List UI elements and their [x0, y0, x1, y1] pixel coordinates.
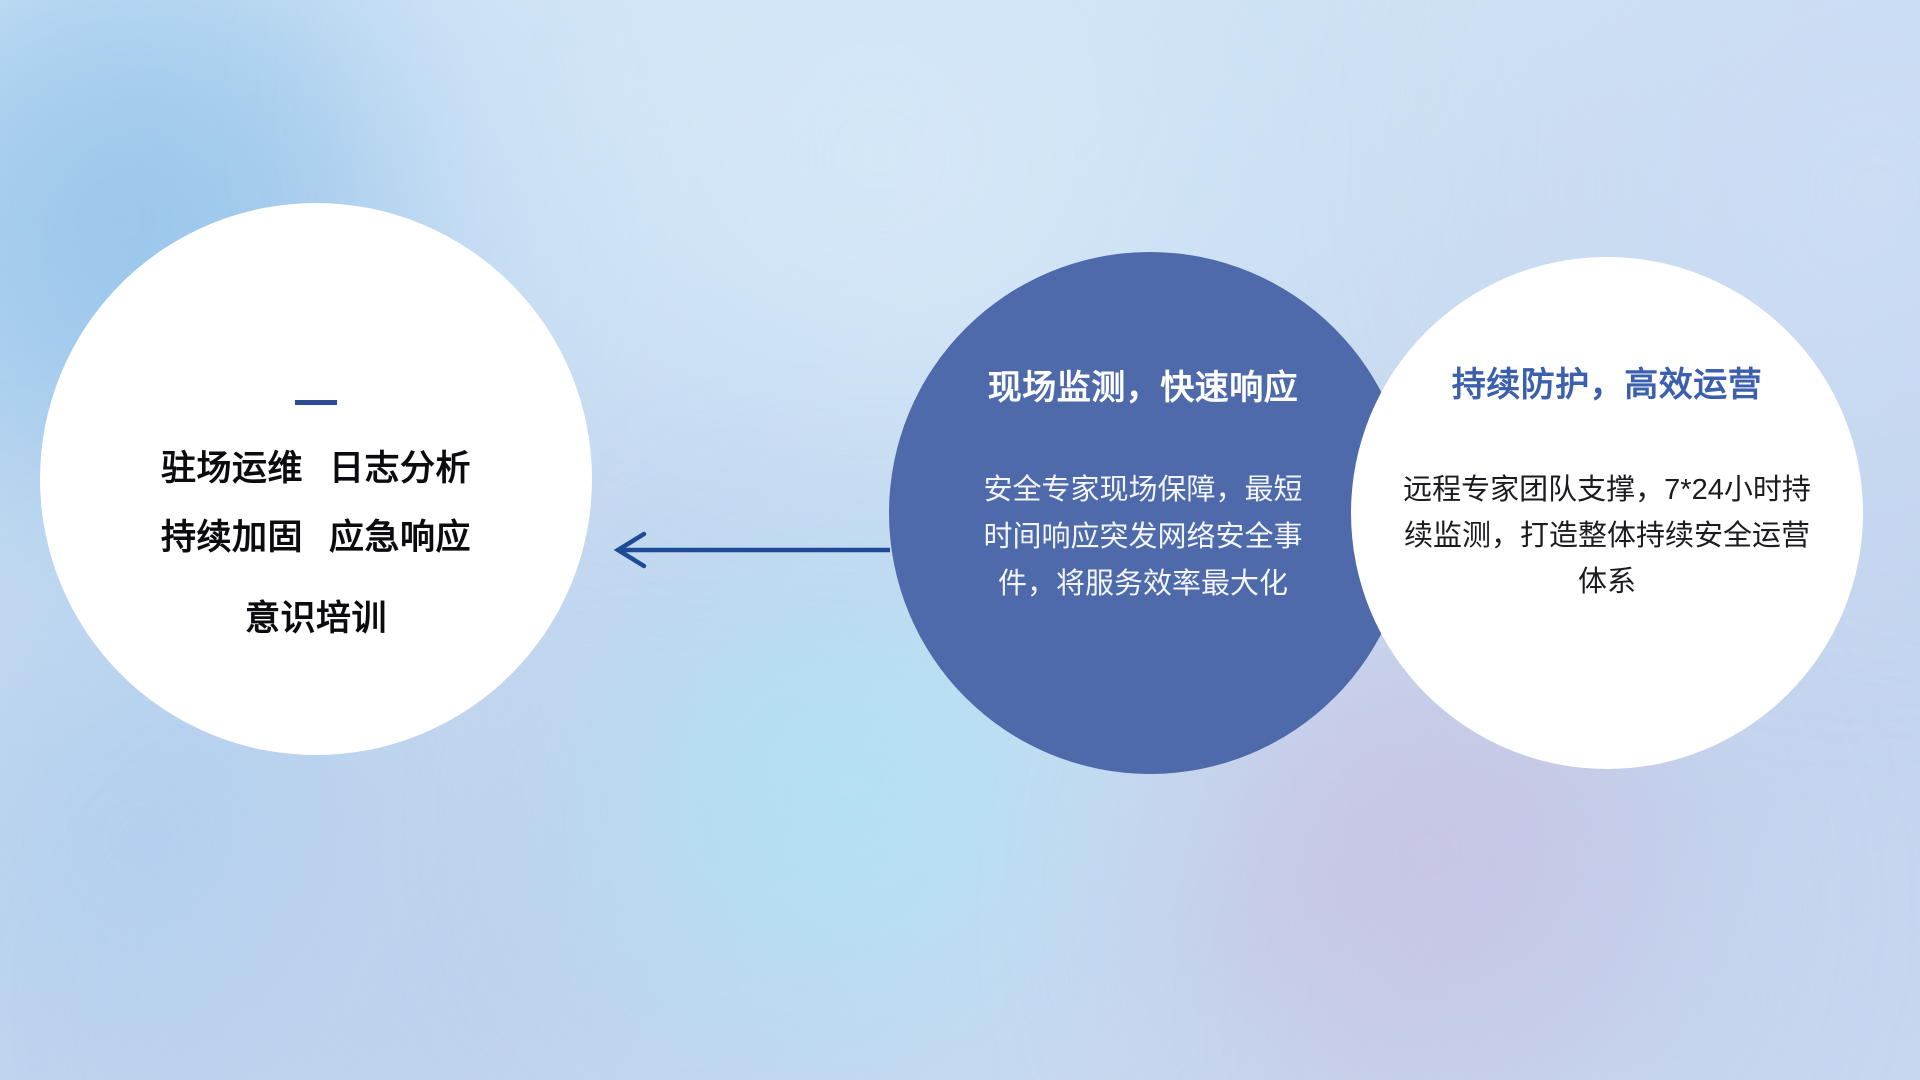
- right-circle-shape: [1351, 257, 1863, 769]
- left-circle-shape: [40, 203, 592, 755]
- slide-canvas: 驻场运维日志分析 持续加固应急响应 意识培训 现场监测，快速响应 安全专家现场保…: [0, 0, 1920, 1080]
- middle-circle-shape: [889, 252, 1411, 774]
